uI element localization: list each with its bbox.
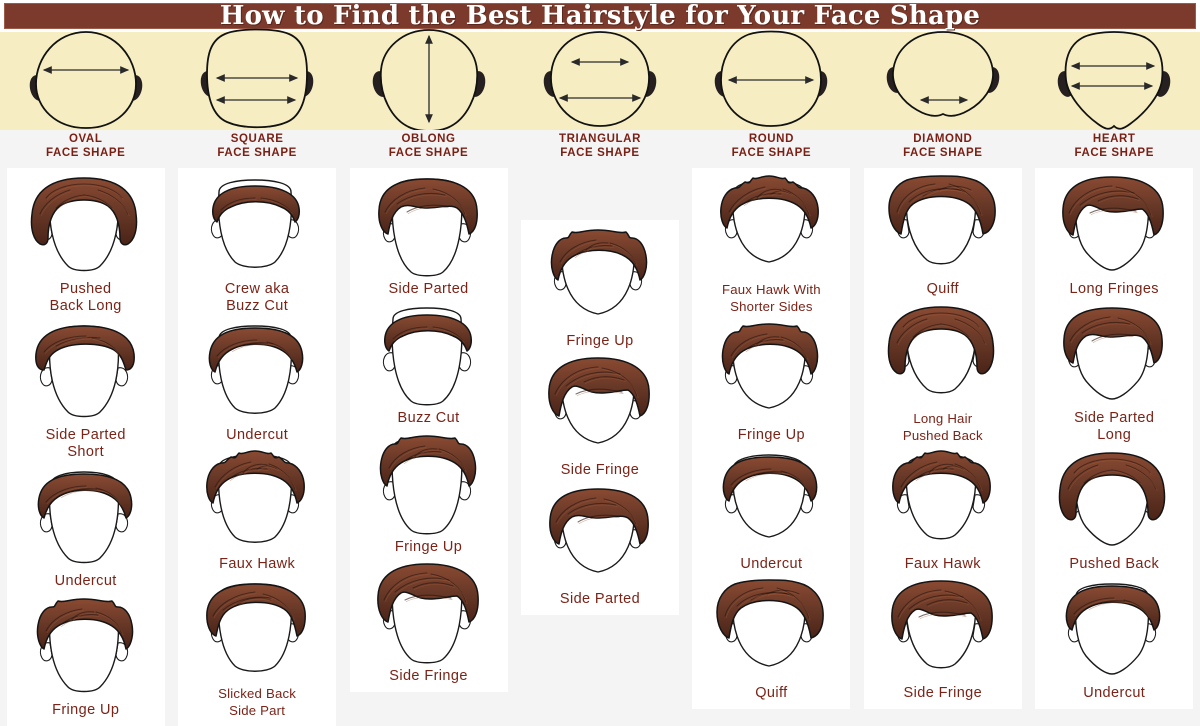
face-shape-label-heart: HEARTFACE SHAPE (1029, 130, 1200, 168)
hairstyle-column-wrap-oblong: Side PartedBuzz CutFringe UpSide Fringe (343, 168, 514, 628)
hairstyle-label: Undercut (55, 573, 117, 590)
face-shape-diagram-oblong (343, 32, 514, 130)
hairstyle-label: Pushed Back Long (50, 281, 122, 315)
hairstyle-illustration-pushed-back-long (881, 301, 1005, 409)
face-shape-sub: FACE SHAPE (343, 146, 514, 160)
face-shape-name: SQUARE (171, 132, 342, 146)
hairstyle-item[interactable]: Faux Hawk With Shorter Sides (694, 172, 848, 318)
face-shape-name: DIAMOND (857, 132, 1028, 146)
hairstyle-item[interactable]: Buzz Cut (352, 301, 506, 430)
hairstyle-illustration-faux-hawk (881, 447, 1005, 555)
face-shape-sub: FACE SHAPE (686, 146, 857, 160)
hairstyle-item[interactable]: Pushed Back Long (9, 172, 163, 318)
face-shape-name: ROUND (686, 132, 857, 146)
hairstyle-label: Pushed Back (1069, 556, 1159, 573)
hairstyle-label: Fringe Up (738, 427, 805, 444)
hairstyle-item[interactable]: Crew aka Buzz Cut (180, 172, 334, 318)
hairstyle-item[interactable]: Slicked Back Side Part (180, 576, 334, 722)
hairstyle-illustration-undercut (1052, 576, 1176, 684)
hairstyle-column-wrap-triangular: Fringe UpSide FringeSide Parted (514, 168, 685, 628)
hairstyle-illustration-faux-hawk (195, 447, 319, 555)
hairstyle-illustration-fringe-up (709, 318, 833, 426)
hairstyle-item[interactable]: Faux Hawk (866, 447, 1020, 576)
face-shape-sub: FACE SHAPE (514, 146, 685, 160)
hairstyle-label: Fringe Up (566, 333, 633, 350)
hairstyle-label: Side Fringe (904, 685, 983, 702)
face-shape-label-triangular: TRIANGULARFACE SHAPE (514, 130, 685, 168)
hairstyle-column-wrap-diamond: QuiffLong Hair Pushed BackFaux HawkSide … (857, 168, 1028, 628)
hairstyle-illustration-side-fringe (367, 559, 491, 667)
face-shape-name: TRIANGULAR (514, 132, 685, 146)
face-shape-diagram-oval (0, 32, 171, 130)
hairstyle-item[interactable]: Undercut (694, 447, 848, 576)
hairstyle-label: Crew aka Buzz Cut (225, 281, 289, 315)
face-shape-label-diamond: DIAMONDFACE SHAPE (857, 130, 1028, 168)
hairstyle-label: Side Parted (388, 281, 468, 298)
face-shape-sub: FACE SHAPE (857, 146, 1028, 160)
face-shape-band (0, 32, 1200, 130)
hairstyle-column-wrap-square: Crew aka Buzz CutUndercutFaux HawkSlicke… (171, 168, 342, 628)
hairstyle-columns: Pushed Back LongSide Parted ShortUndercu… (0, 168, 1200, 628)
face-shape-name: HEART (1029, 132, 1200, 146)
hairstyle-item[interactable]: Side Fringe (523, 353, 677, 482)
hairstyle-item[interactable]: Long Fringes (1037, 172, 1191, 301)
hairstyle-label: Side Parted Short (46, 427, 126, 461)
face-shape-diagram-diamond (857, 32, 1028, 130)
face-shape-diagram-heart (1029, 32, 1200, 130)
hairstyle-illustration-fringe-up (538, 224, 662, 332)
face-shape-label-oval: OVALFACE SHAPE (0, 130, 171, 168)
hairstyle-illustration-pushed-back-long (1052, 447, 1176, 555)
hairstyle-label: Faux Hawk (905, 556, 981, 573)
face-shape-diagram-triangular (514, 32, 685, 130)
hairstyle-illustration-quiff (881, 172, 1005, 280)
hairstyle-item[interactable]: Side Parted (352, 172, 506, 301)
hairstyle-item[interactable]: Quiff (694, 576, 848, 705)
hairstyle-label: Quiff (755, 685, 787, 702)
hairstyle-item[interactable]: Undercut (180, 318, 334, 447)
hairstyle-column-wrap-heart: Long FringesSide Parted LongPushed BackU… (1029, 168, 1200, 628)
hairstyle-illustration-side-parted-short (24, 318, 148, 426)
hairstyle-label: Side Fringe (561, 462, 640, 479)
hairstyle-column-wrap-oval: Pushed Back LongSide Parted ShortUndercu… (0, 168, 171, 628)
hairstyle-illustration-side-fringe (538, 353, 662, 461)
hairstyle-illustration-faux-hawk (709, 172, 833, 280)
face-shape-label-square: SQUAREFACE SHAPE (171, 130, 342, 168)
hairstyle-column-oval: Pushed Back LongSide Parted ShortUndercu… (7, 168, 165, 726)
face-shape-name: OBLONG (343, 132, 514, 146)
hairstyle-label: Undercut (226, 427, 288, 444)
hairstyle-illustration-side-parted (367, 172, 491, 280)
hairstyle-label: Undercut (740, 556, 802, 573)
face-shape-name: OVAL (0, 132, 171, 146)
hairstyle-illustration-slicked-back (195, 576, 319, 684)
hairstyle-label: Side Parted Long (1074, 410, 1154, 444)
hairstyle-illustration-side-fringe (1052, 172, 1176, 280)
hairstyle-label: Fringe Up (52, 702, 119, 719)
hairstyle-label: Long Hair Pushed Back (903, 410, 983, 444)
hairstyle-column-triangular: Fringe UpSide FringeSide Parted (521, 220, 679, 615)
hairstyle-label: Quiff (927, 281, 959, 298)
hairstyle-label: Buzz Cut (398, 410, 460, 427)
hairstyle-item[interactable]: Side Parted Long (1037, 301, 1191, 447)
hairstyle-illustration-fringe-up (367, 430, 491, 538)
hairstyle-illustration-undercut (195, 318, 319, 426)
hairstyle-item[interactable]: Quiff (866, 172, 1020, 301)
hairstyle-label: Fringe Up (395, 539, 462, 556)
hairstyle-label: Side Fringe (389, 668, 468, 685)
face-shape-label-oblong: OBLONGFACE SHAPE (343, 130, 514, 168)
hairstyle-illustration-fringe-up (24, 593, 148, 701)
hairstyle-column-square: Crew aka Buzz CutUndercutFaux HawkSlicke… (178, 168, 336, 726)
hairstyle-item[interactable]: Pushed Back (1037, 447, 1191, 576)
hairstyle-illustration-buzz-cut (195, 172, 319, 280)
face-shape-sub: FACE SHAPE (171, 146, 342, 160)
hairstyle-item[interactable]: Fringe Up (523, 224, 677, 353)
hairstyle-column-wrap-round: Faux Hawk With Shorter SidesFringe UpUnd… (686, 168, 857, 628)
hairstyle-label: Long Fringes (1070, 281, 1159, 298)
hairstyle-illustration-side-fringe (881, 576, 1005, 684)
hairstyle-illustration-quiff (709, 576, 833, 684)
hairstyle-label: Faux Hawk With Shorter Sides (722, 281, 821, 315)
hairstyle-item[interactable]: Long Hair Pushed Back (866, 301, 1020, 447)
hairstyle-item[interactable]: Fringe Up (9, 593, 163, 722)
hairstyle-illustration-undercut (709, 447, 833, 555)
hairstyle-item[interactable]: Fringe Up (352, 430, 506, 559)
hairstyle-illustration-pushed-back-long (24, 172, 148, 280)
face-shape-sub: FACE SHAPE (0, 146, 171, 160)
hairstyle-illustration-side-parted (1052, 301, 1176, 409)
hairstyle-column-oblong: Side PartedBuzz CutFringe UpSide Fringe (350, 168, 508, 692)
hairstyle-illustration-undercut (24, 464, 148, 572)
hairstyle-item[interactable]: Side Parted Short (9, 318, 163, 464)
hairstyle-item[interactable]: Undercut (1037, 576, 1191, 705)
hairstyle-item[interactable]: Fringe Up (694, 318, 848, 447)
hairstyle-illustration-buzz-cut (367, 301, 491, 409)
hairstyle-label: Undercut (1083, 685, 1145, 702)
hairstyle-label: Slicked Back Side Part (218, 685, 296, 719)
hairstyle-item[interactable]: Side Parted (523, 482, 677, 611)
hairstyle-label: Side Parted (560, 591, 640, 608)
hairstyle-label: Faux Hawk (219, 556, 295, 573)
face-shape-diagram-square (171, 32, 342, 130)
hairstyle-item[interactable]: Side Fringe (352, 559, 506, 688)
hairstyle-item[interactable]: Faux Hawk (180, 447, 334, 576)
face-shape-diagram-round (686, 32, 857, 130)
face-shape-label-band: OVALFACE SHAPESQUAREFACE SHAPEOBLONGFACE… (0, 130, 1200, 168)
hairstyle-item[interactable]: Undercut (9, 464, 163, 593)
hairstyle-illustration-side-parted (538, 482, 662, 590)
hairstyle-item[interactable]: Side Fringe (866, 576, 1020, 705)
face-shape-label-round: ROUNDFACE SHAPE (686, 130, 857, 168)
face-shape-sub: FACE SHAPE (1029, 146, 1200, 160)
